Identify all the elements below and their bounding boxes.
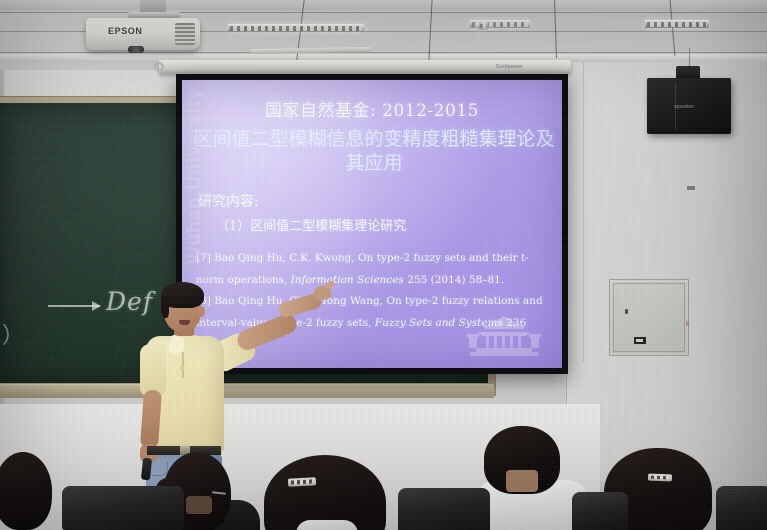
wall-panel-sticker-icon <box>634 337 646 344</box>
hair-clip-icon <box>288 477 316 486</box>
presenter-right-upper-arm <box>235 311 300 353</box>
wall-mark <box>687 186 695 190</box>
wall-access-panel[interactable] <box>609 279 689 356</box>
hair-clip-icon <box>648 474 672 482</box>
wall-panel-screw <box>625 309 628 314</box>
speaker-brand-label: speaker <box>674 104 695 110</box>
screen-hook-icon <box>154 62 164 72</box>
audience-head <box>0 452 52 530</box>
presenter-left-sleeve <box>140 344 166 396</box>
presenter-ear <box>198 306 205 317</box>
chalk-paren: ） <box>2 318 24 350</box>
wall-seam <box>583 62 584 362</box>
screen-brand-label: Goldpower <box>496 64 523 70</box>
wall-panel-inner-frame <box>613 283 685 352</box>
lecture-chair[interactable] <box>572 492 628 530</box>
projection-screen-housing: Goldpower <box>159 60 571 74</box>
lecture-chair[interactable] <box>398 488 490 530</box>
ref-7-suffix: 255 (2014) 58–81. <box>404 274 504 286</box>
presenter-shirt-button <box>180 366 184 370</box>
wuhan-university-logo-icon <box>460 314 548 358</box>
projector-brand-label: EPSON <box>108 26 143 36</box>
audience-neck <box>186 496 212 514</box>
lecture-chair[interactable] <box>62 486 184 530</box>
reference-7-line-1: [7] Bao Qing Hu, C.K. Kwong, On type-2 f… <box>196 248 550 270</box>
chalk-arrow-icon <box>48 305 100 307</box>
audience-shoulders <box>296 520 358 530</box>
projector-vent-icon <box>175 23 195 45</box>
ceiling-light-icon <box>228 24 364 32</box>
slide-bullet-item: （1）区间值二型模糊集理论研究 <box>216 215 406 234</box>
lecture-chair[interactable] <box>716 486 767 530</box>
ceiling-light-icon <box>478 22 488 30</box>
ceiling-light-icon <box>645 20 709 28</box>
presenter-hair-side <box>161 296 169 318</box>
lecture-hall-photo: EPSON speaker ） Def Goldpower <box>0 0 767 530</box>
speaker-wire <box>689 48 690 68</box>
presenter-mouth <box>179 320 190 325</box>
projector-body: EPSON <box>86 18 200 50</box>
wall-mark <box>686 321 689 326</box>
presenter-shirt-placket <box>182 352 184 378</box>
projector-lens-icon <box>128 46 144 53</box>
speaker-box: speaker <box>647 78 731 134</box>
slide-title-line-2: 区间值二型模糊信息的变精度粗糙集理论及其应用 <box>190 128 558 176</box>
slide-section-heading: 研究内容: <box>198 191 259 211</box>
slide-title-line-1: 国家自然基金: 2012-2015 <box>182 96 562 121</box>
audience-neck <box>506 470 538 492</box>
